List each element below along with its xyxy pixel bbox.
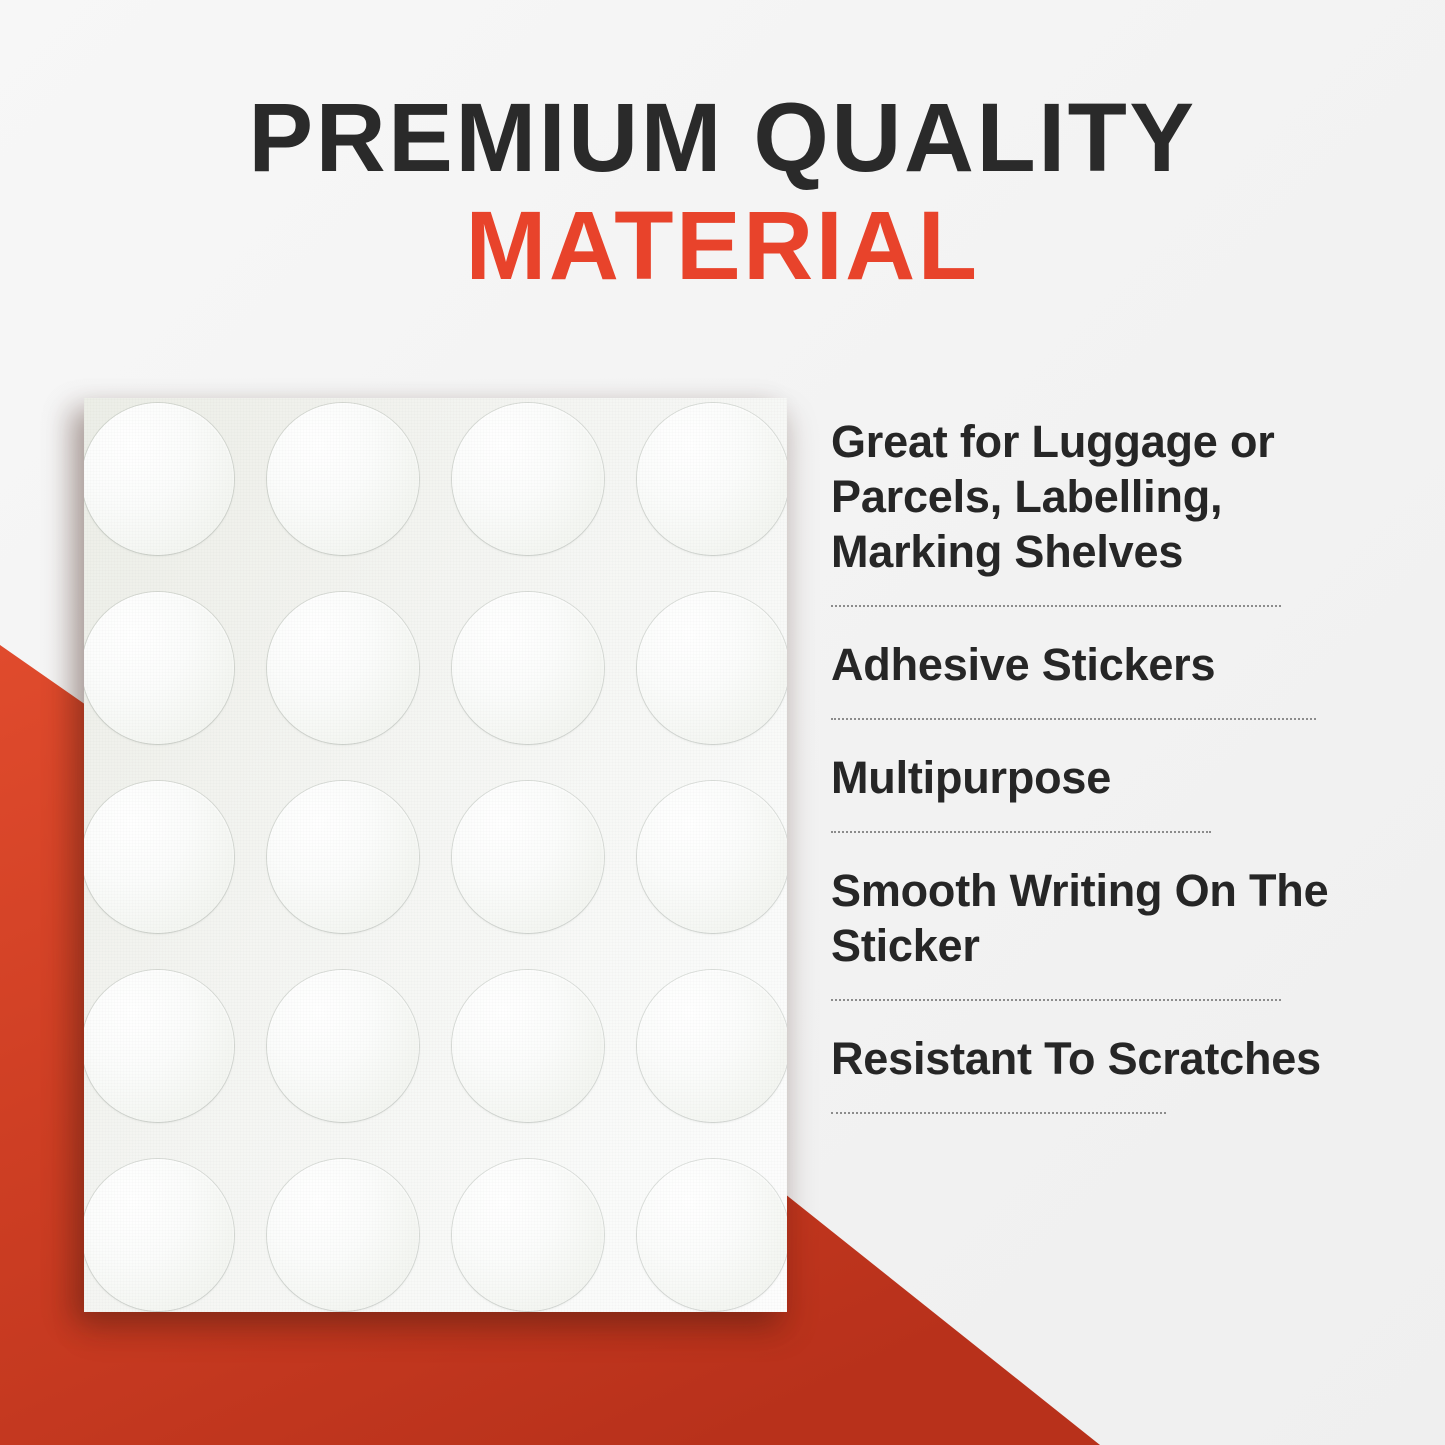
sticker-dot — [452, 1159, 604, 1311]
heading-block: PREMIUM QUALITY MATERIAL — [0, 86, 1445, 298]
sticker-dot — [267, 781, 419, 933]
sticker-dot — [452, 592, 604, 744]
sticker-dot — [267, 970, 419, 1122]
feature-divider — [831, 831, 1211, 833]
sticker-dot — [637, 970, 787, 1122]
sticker-dot — [267, 1159, 419, 1311]
sticker-dot-cell — [436, 573, 621, 762]
feature-divider — [831, 718, 1316, 720]
sticker-dot — [84, 781, 234, 933]
sticker-dot-cell — [251, 398, 436, 573]
sticker-dot-cell — [436, 398, 621, 573]
sticker-dot — [637, 1159, 787, 1311]
feature-item-4: Smooth Writing On The Sticker — [831, 863, 1371, 1001]
feature-label: Smooth Writing On The Sticker — [831, 863, 1371, 973]
sticker-sheet — [84, 398, 787, 1312]
sticker-dot — [637, 592, 787, 744]
sticker-dot — [267, 403, 419, 555]
sticker-dot-cell — [84, 1141, 251, 1312]
page-title-line-1: PREMIUM QUALITY — [0, 86, 1445, 190]
sticker-dot-cell — [620, 573, 787, 762]
sticker-dot-cell — [436, 762, 621, 951]
sticker-dot-cell — [620, 952, 787, 1141]
sticker-dot-cell — [620, 1141, 787, 1312]
sticker-dot — [84, 970, 234, 1122]
sticker-dot-cell — [84, 573, 251, 762]
sticker-dot-cell — [620, 398, 787, 573]
feature-divider — [831, 1112, 1166, 1114]
sticker-dot-cell — [620, 762, 787, 951]
sticker-dot — [267, 592, 419, 744]
sticker-dot-grid — [84, 398, 787, 1312]
sticker-dot-cell — [84, 762, 251, 951]
sticker-dot — [84, 403, 234, 555]
sticker-dot-cell — [251, 573, 436, 762]
feature-label: Multipurpose — [831, 750, 1371, 805]
sticker-dot — [452, 970, 604, 1122]
feature-item-2: Adhesive Stickers — [831, 637, 1371, 720]
sticker-dot — [452, 781, 604, 933]
feature-item-3: Multipurpose — [831, 750, 1371, 833]
product-photo — [84, 398, 787, 1312]
infographic-canvas: PREMIUM QUALITY MATERIAL — [0, 0, 1445, 1445]
feature-item-5: Resistant To Scratches — [831, 1031, 1371, 1114]
sticker-dot-cell — [84, 398, 251, 573]
sticker-dot-cell — [436, 952, 621, 1141]
sticker-dot-cell — [251, 952, 436, 1141]
sticker-dot — [637, 781, 787, 933]
sticker-dot — [84, 1159, 234, 1311]
sticker-dot — [637, 403, 787, 555]
sticker-dot-cell — [251, 762, 436, 951]
feature-list: Great for Luggage or Parcels, Labelling,… — [831, 414, 1371, 1144]
page-title-line-2: MATERIAL — [0, 194, 1445, 298]
feature-label: Adhesive Stickers — [831, 637, 1371, 692]
sticker-dot — [452, 403, 604, 555]
sticker-dot-cell — [84, 952, 251, 1141]
feature-label: Great for Luggage or Parcels, Labelling,… — [831, 414, 1371, 579]
feature-item-1: Great for Luggage or Parcels, Labelling,… — [831, 414, 1371, 607]
feature-label: Resistant To Scratches — [831, 1031, 1371, 1086]
feature-divider — [831, 605, 1281, 607]
sticker-dot-cell — [436, 1141, 621, 1312]
sticker-dot-cell — [251, 1141, 436, 1312]
sticker-dot — [84, 592, 234, 744]
feature-divider — [831, 999, 1281, 1001]
